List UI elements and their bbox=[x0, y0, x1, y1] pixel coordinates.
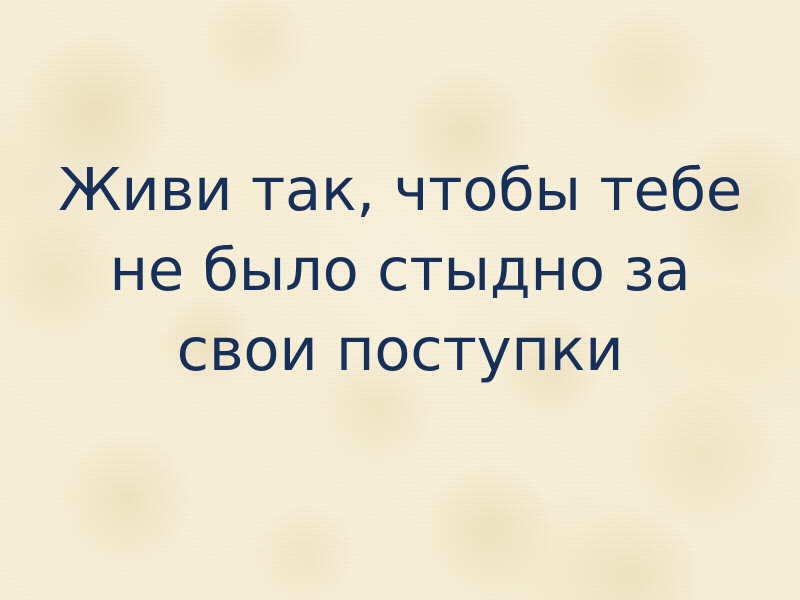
quote-line-1: Живи так, чтобы тебе bbox=[24, 150, 776, 230]
quote-line-3: свои поступки bbox=[24, 310, 776, 390]
quote-line-2: не было стыдно за bbox=[24, 230, 776, 310]
quote-text-block: Живи так, чтобы тебе не было стыдно за с… bbox=[0, 150, 800, 390]
presentation-slide: Живи так, чтобы тебе не было стыдно за с… bbox=[0, 0, 800, 600]
